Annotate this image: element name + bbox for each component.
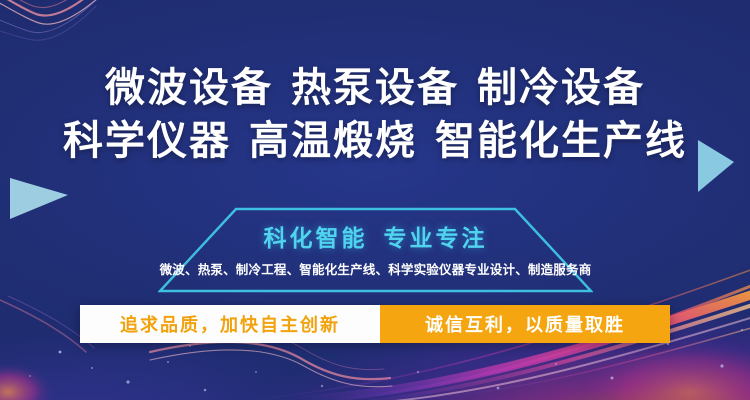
headline-word-1: 微波设备 [105,66,273,110]
headline-word-2: 热泵设备 [291,66,459,110]
page-title: 微波设备热泵设备制冷设备 科学仪器高温煅烧智能化生产线 [0,62,750,168]
badge-title: 科化智能专业专注 [158,219,593,253]
badge-subtitle: 微波、热泵、制冷工程、智能化生产线、科学实验仪器专业设计、制造服务商 [140,259,611,278]
slogan-left[interactable]: 追求品质，加快自主创新 [80,305,380,343]
slogan-right[interactable]: 诚信互利，以质量取胜 [380,305,670,343]
slogan-bar: 追求品质，加快自主创新 诚信互利，以质量取胜 [80,305,670,343]
badge-title-a: 科化智能 [264,225,368,251]
triangle-left-decor-icon [10,178,68,219]
headline-word-3: 制冷设备 [477,66,645,110]
headline-word-6: 智能化生产线 [435,119,687,163]
headline-word-5: 高温煅烧 [249,119,417,163]
badge-title-b: 专业专注 [384,225,488,251]
badge-trapezoid: 科化智能专业专注 微波、热泵、制冷工程、智能化生产线、科学实验仪器专业设计、制造… [158,207,593,293]
promo-banner: 微波设备热泵设备制冷设备 科学仪器高温煅烧智能化生产线 科化智能专业专注 微波、… [0,0,750,400]
headline-word-4: 科学仪器 [63,119,231,163]
